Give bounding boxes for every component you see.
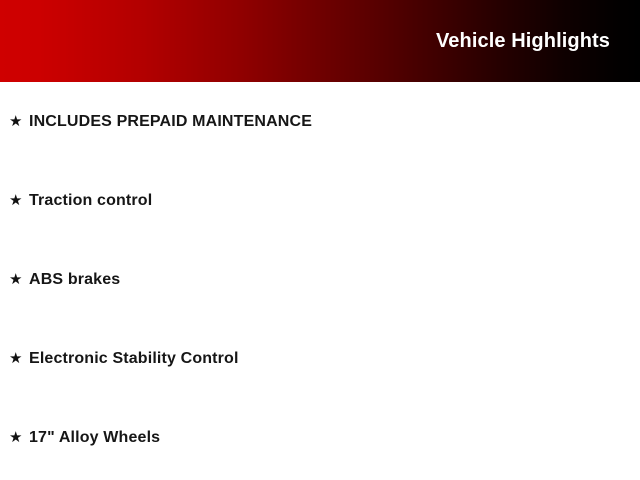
header-banner: Vehicle Highlights <box>0 0 640 82</box>
list-item: ★ Traction control <box>9 190 152 212</box>
vehicle-highlights-slide: Vehicle Highlights ★ INCLUDES PREPAID MA… <box>0 0 640 480</box>
star-icon: ★ <box>9 348 29 370</box>
list-item: ★ INCLUDES PREPAID MAINTENANCE <box>9 111 312 133</box>
star-icon: ★ <box>9 427 29 449</box>
highlight-label: ABS brakes <box>29 269 120 291</box>
page-title: Vehicle Highlights <box>436 29 610 53</box>
highlight-label: Electronic Stability Control <box>29 348 239 370</box>
list-item: ★ ABS brakes <box>9 269 120 291</box>
highlight-label: 17" Alloy Wheels <box>29 427 160 449</box>
star-icon: ★ <box>9 190 29 212</box>
list-item: ★ Electronic Stability Control <box>9 348 239 370</box>
star-icon: ★ <box>9 111 29 133</box>
star-icon: ★ <box>9 269 29 291</box>
vehicle-highlights-list: ★ INCLUDES PREPAID MAINTENANCE ★ Tractio… <box>0 82 640 480</box>
list-item: ★ 17" Alloy Wheels <box>9 427 160 449</box>
highlight-label: INCLUDES PREPAID MAINTENANCE <box>29 111 312 133</box>
highlight-label: Traction control <box>29 190 152 212</box>
